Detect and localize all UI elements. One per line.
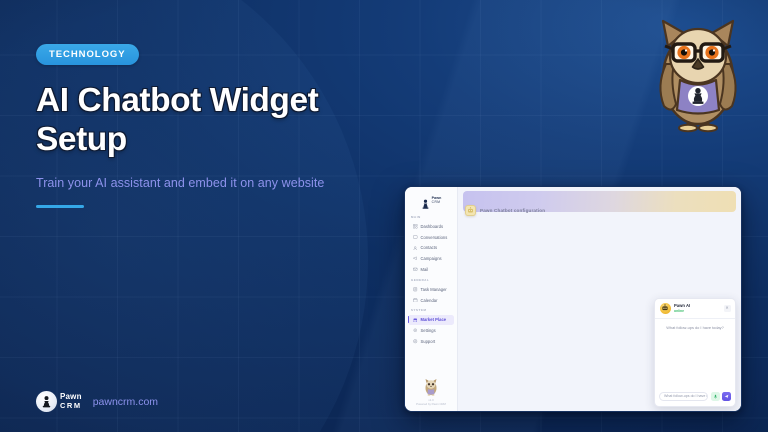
- sidebar-logo-line2: CRM: [432, 201, 442, 204]
- chess-pawn-icon: [36, 391, 57, 412]
- sidebar-logo-text: Pawn CRM: [432, 197, 442, 204]
- sidebar-item-label: Campaigns: [421, 256, 442, 261]
- accent-bar: [36, 205, 84, 209]
- app-sidebar: Pawn CRM MAIN Dashboards Conversations C…: [405, 187, 458, 411]
- close-icon[interactable]: ✕: [724, 305, 731, 312]
- main-header-row: Pawn Chatbot configuration: [458, 203, 741, 216]
- sidebar-item-label: Task Manager: [421, 287, 447, 292]
- app-window-screenshot: Pawn CRM MAIN Dashboards Conversations C…: [404, 186, 742, 412]
- footer-brand: Pawn CRM pawncrm.com: [36, 391, 158, 412]
- bot-avatar-icon: [660, 303, 671, 314]
- checklist-icon: [413, 287, 418, 292]
- sidebar-item-label: Market Place: [421, 317, 447, 322]
- chat-message-list: What follow-ups do I have today?: [655, 319, 735, 388]
- sidebar-item-label: Settings: [421, 328, 436, 333]
- sidebar-item-label: Contacts: [421, 245, 438, 250]
- chat-icon: [413, 235, 418, 240]
- brand-name-line1: Pawn: [60, 393, 82, 401]
- main-header-title: Pawn Chatbot configuration: [480, 208, 545, 213]
- chat-input-row: What follow-ups do I have to: [655, 388, 735, 406]
- user-icon: [413, 246, 418, 251]
- sidebar-item-settings[interactable]: Settings: [408, 326, 454, 336]
- calendar-icon: [413, 298, 418, 303]
- sidebar-item-task-manager[interactable]: Task Manager: [408, 284, 454, 294]
- footer-url: pawncrm.com: [93, 396, 158, 408]
- chat-status-badge: online: [674, 309, 720, 313]
- chat-widget[interactable]: Pawn AI online ✕ What follow-ups do I ha…: [654, 298, 736, 407]
- sidebar-item-market-place[interactable]: Market Place: [408, 315, 454, 325]
- sidebar-item-support[interactable]: Support: [408, 337, 454, 347]
- sidebar-section-label-main: MAIN: [405, 212, 457, 221]
- envelope-icon: [413, 267, 418, 272]
- mic-icon[interactable]: [711, 392, 720, 401]
- sidebar-item-label: Mail: [421, 267, 429, 272]
- sidebar-footer: v1.0 Powered by Pawn CRM: [405, 377, 457, 411]
- sidebar-section-label-general: GENERAL: [405, 275, 457, 284]
- sidebar-item-label: Dashboards: [421, 224, 444, 229]
- brand-logo: Pawn CRM: [36, 391, 82, 412]
- sidebar-item-label: Calendar: [421, 298, 438, 303]
- chat-bot-identity: Pawn AI online: [674, 303, 720, 313]
- send-icon[interactable]: [722, 392, 731, 401]
- sidebar-powered-by: Powered by Pawn CRM: [405, 402, 457, 406]
- chat-input[interactable]: What follow-ups do I have to: [659, 392, 708, 401]
- grid-icon: [413, 224, 418, 229]
- brand-name-line2: CRM: [60, 402, 82, 410]
- owl-icon: [423, 377, 439, 396]
- category-badge: TECHNOLOGY: [36, 44, 139, 65]
- brand-wordmark: Pawn CRM: [60, 393, 82, 410]
- megaphone-icon: [413, 256, 418, 261]
- chat-widget-header: Pawn AI online ✕: [655, 299, 735, 319]
- sidebar-item-campaigns[interactable]: Campaigns: [408, 254, 454, 264]
- chatbot-icon: [465, 205, 476, 216]
- sidebar-item-conversations[interactable]: Conversations: [408, 232, 454, 242]
- chess-pawn-icon: [421, 196, 430, 205]
- lifebuoy-icon: [413, 339, 418, 344]
- sidebar-item-label: Support: [421, 339, 436, 344]
- sidebar-item-calendar[interactable]: Calendar: [408, 295, 454, 305]
- slide-text-column: TECHNOLOGY AI Chatbot Widget Setup Train…: [36, 44, 396, 208]
- sidebar-logo[interactable]: Pawn CRM: [405, 192, 457, 212]
- storefront-icon: [413, 318, 418, 323]
- page-title: AI Chatbot Widget Setup: [36, 82, 336, 160]
- chat-message: What follow-ups do I have today?: [660, 325, 730, 330]
- owl-mascot-icon: [646, 6, 750, 134]
- page-subtitle: Train your AI assistant and embed it on …: [36, 176, 396, 190]
- sidebar-item-mail[interactable]: Mail: [408, 265, 454, 275]
- sidebar-section-label-system: SYSTEM: [405, 305, 457, 314]
- gear-icon: [413, 328, 418, 333]
- sidebar-item-dashboards[interactable]: Dashboards: [408, 222, 454, 232]
- sidebar-item-contacts[interactable]: Contacts: [408, 243, 454, 253]
- sidebar-item-label: Conversations: [421, 235, 448, 240]
- app-main-content: Pawn Chatbot configuration Pawn AI onlin…: [458, 187, 741, 411]
